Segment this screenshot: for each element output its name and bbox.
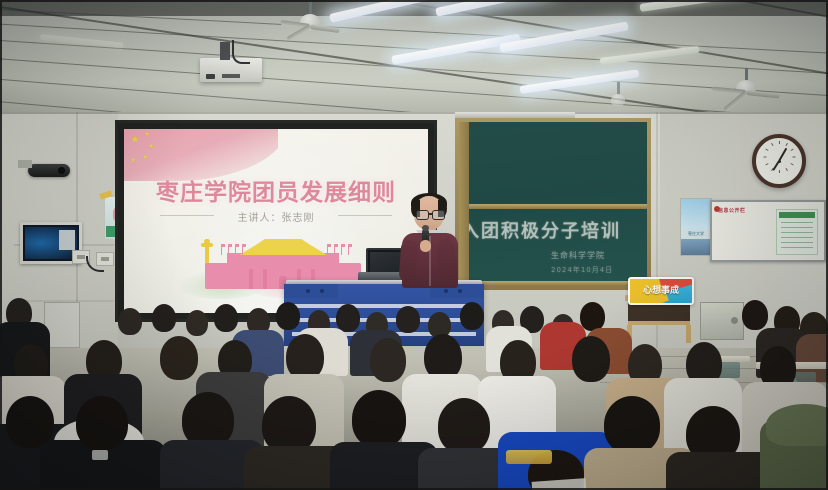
projector-mount (220, 42, 230, 60)
poster-hill (681, 239, 711, 255)
clock-center-pin (778, 160, 781, 163)
audience-head (276, 302, 300, 330)
glasses-icon (416, 210, 429, 220)
banner-text: 心想事成 (630, 283, 692, 296)
wall-ceiling-seam (0, 112, 828, 114)
wall-speaker (28, 164, 70, 177)
projector-vent (222, 74, 240, 78)
audience-head (76, 396, 128, 450)
lectern-bolt (458, 289, 462, 293)
slide-subtitle: 主讲人：张志刚 (124, 209, 428, 224)
audience-head (370, 338, 406, 382)
projector (200, 58, 262, 82)
audience-head (604, 396, 660, 454)
audience-head (572, 336, 610, 382)
whiteboard-notice (776, 209, 818, 255)
hoodie-lettering (506, 450, 552, 464)
flag-star-icon: ★ (142, 154, 148, 161)
ceiling-light-tube (40, 34, 124, 49)
audience-head (336, 304, 360, 332)
gate-roof-lower (231, 246, 335, 255)
slide-title: 枣庄学院团员发展细则 (124, 173, 428, 207)
audience-head (214, 304, 238, 332)
audience-head (160, 336, 198, 380)
ceiling (0, 0, 828, 118)
audience-head (352, 390, 406, 448)
audience-head (460, 302, 484, 330)
classroom-scene: ★ ★ ★ ★ ★ 枣庄学院团员发展细则 主讲人：张志刚 (0, 0, 828, 490)
information-whiteboard: 信息公开栏 (710, 200, 826, 262)
audience-head (118, 308, 142, 335)
gate-column (263, 269, 267, 289)
presenter (398, 196, 462, 288)
presenter-hand (420, 240, 431, 252)
blackboard-chalk-rail (459, 281, 647, 286)
gate-roof-upper (245, 239, 321, 247)
flag-star-icon: ★ (144, 131, 150, 138)
presenter-arm (399, 239, 419, 282)
lectern-bolt (320, 289, 324, 293)
hood (766, 404, 828, 446)
flag-star-icon: ★ (130, 157, 136, 164)
wall-clock (752, 134, 806, 188)
flag-star-icon: ★ (130, 137, 140, 144)
glasses-bridge (428, 213, 432, 215)
poster-caption: 枣庄大学 (681, 231, 711, 237)
audience-head (6, 396, 54, 448)
projector-cable (232, 40, 250, 64)
fan-blade (310, 24, 340, 33)
glasses-icon (432, 210, 445, 220)
lectern-bolt (444, 289, 448, 293)
blackboard-organization: 生命科学学院 (551, 250, 605, 261)
audience-head (438, 398, 490, 454)
audience-head (186, 310, 208, 336)
whiteboard-header: 信息公开栏 (718, 207, 746, 214)
projector-lens (206, 74, 215, 79)
audience-head (396, 306, 420, 333)
gate-column (249, 269, 253, 289)
audience (0, 300, 828, 490)
speaker-bracket (18, 160, 32, 168)
panel-card (59, 230, 75, 250)
lectern-wing (284, 284, 338, 298)
scenic-poster: 枣庄大学 (680, 198, 712, 256)
audience-head (152, 304, 176, 332)
flag-star-icon: ★ (148, 143, 154, 150)
blackboard-frame: 入团积极分子培训 生命科学学院 2024年10月4日 (455, 118, 651, 290)
jacket-logo (92, 450, 108, 460)
fan-motor (611, 94, 625, 106)
audience-head (742, 300, 768, 330)
blackboard-headline: 入团积极分子培训 (461, 217, 621, 243)
blackboard-date: 2024年10月4日 (551, 265, 613, 275)
audience-body (666, 452, 774, 490)
screenshot-root: ★ ★ ★ ★ ★ 枣庄学院团员发展细则 主讲人：张志刚 (0, 0, 828, 490)
audience-head (580, 302, 605, 331)
blackboard-middle-rail (459, 204, 647, 209)
lectern-bolt (306, 289, 310, 293)
